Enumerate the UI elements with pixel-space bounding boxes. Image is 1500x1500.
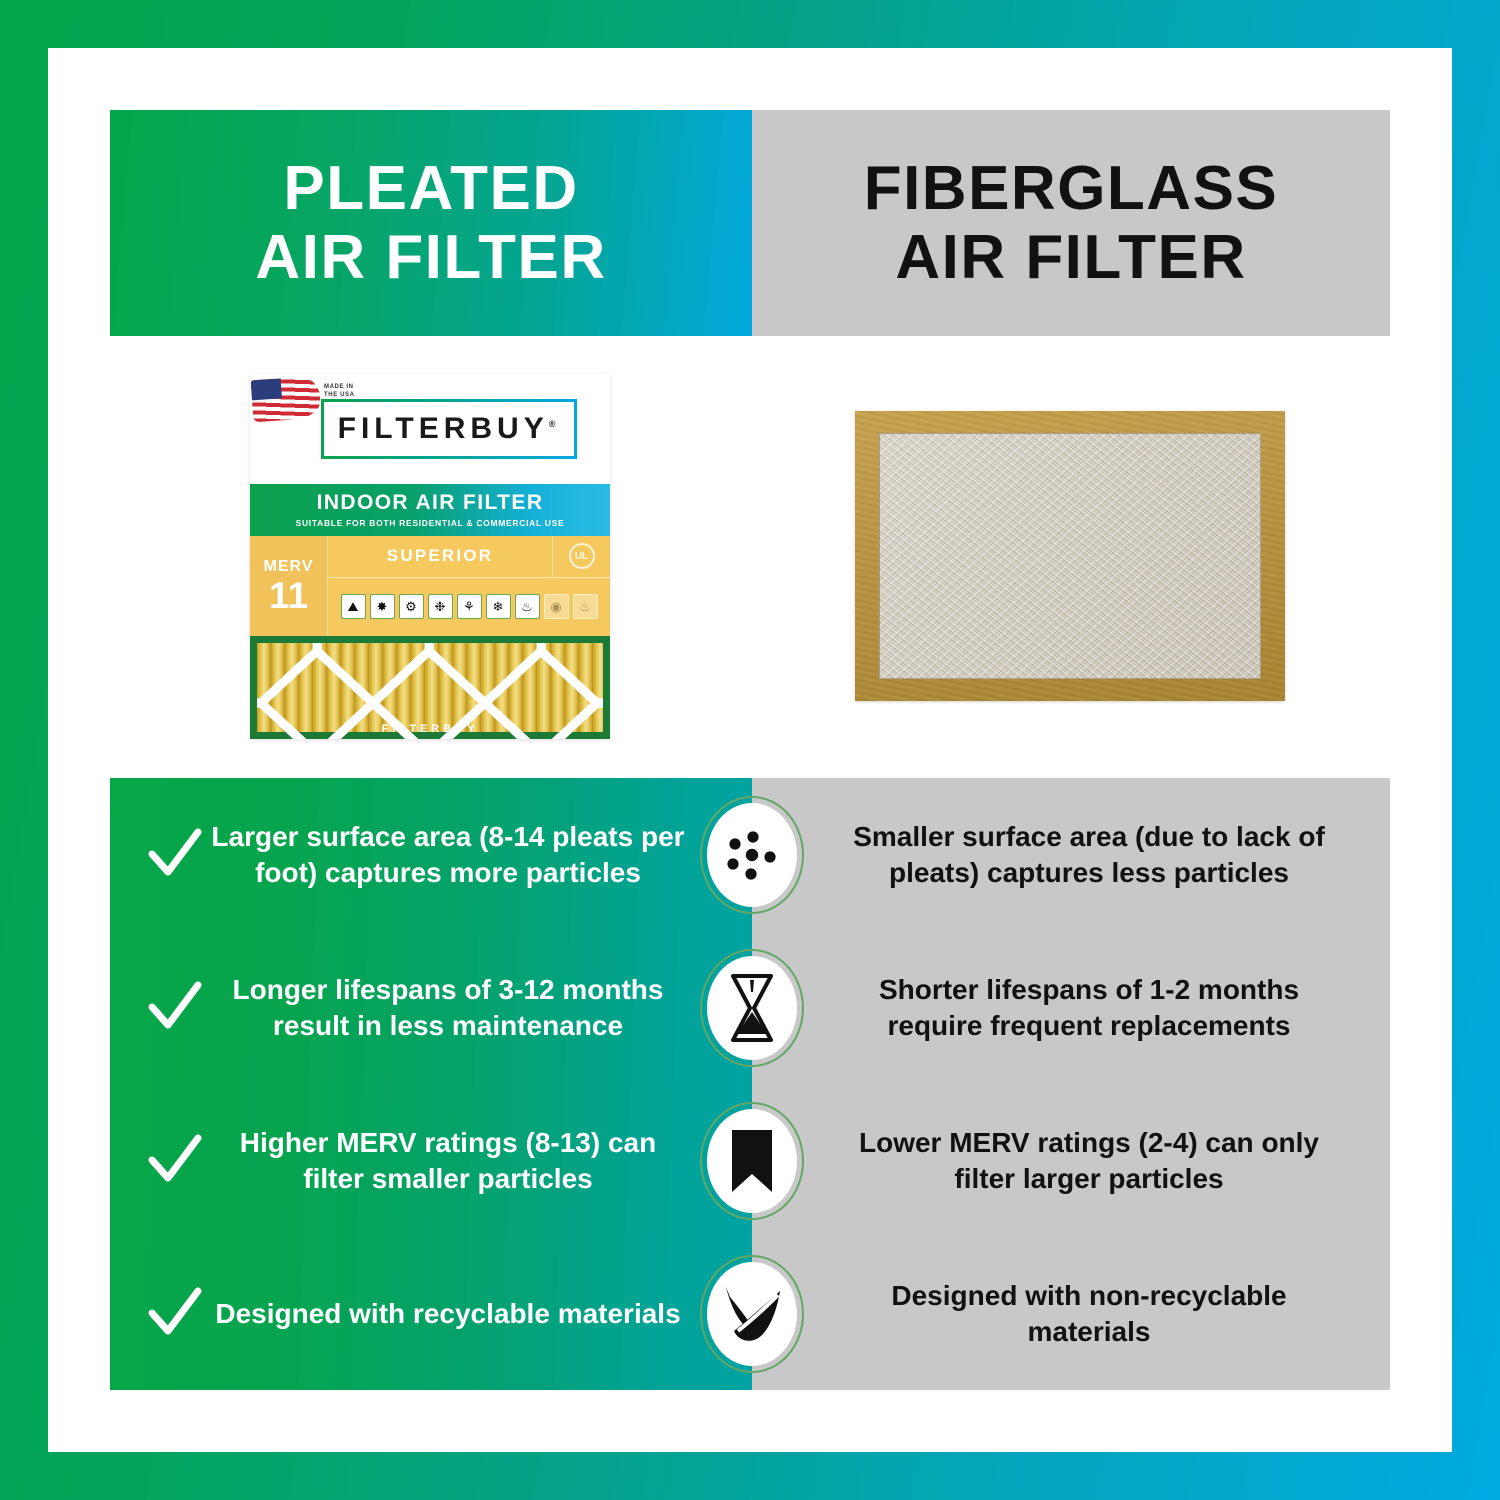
- merv-label: MERV: [264, 558, 314, 576]
- comparison-row: Designed with recyclable materials Desig…: [110, 1237, 1390, 1390]
- package-band-title: INDOOR AIR FILTER: [317, 491, 544, 515]
- infographic-content: PLEATED AIR FILTER FIBERGLASS AIR FILTER…: [110, 110, 1390, 1390]
- header-row: PLEATED AIR FILTER FIBERGLASS AIR FILTER: [110, 110, 1390, 336]
- usa-flag-icon: [251, 375, 322, 422]
- merv-detail-column: SUPERIOR UL ⛰ ✸ ⚙ ❉ ⚘ ❄ ♨: [328, 536, 610, 636]
- fiberglass-product-cell: [750, 336, 1390, 776]
- bookmark-icon: [700, 1102, 804, 1220]
- fiberglass-filter-image: [855, 411, 1285, 701]
- package-header: MADE IN THE USA FILTERBUY®: [250, 374, 610, 484]
- odor-icon: ♨: [573, 594, 598, 619]
- hourglass-icon: [700, 949, 804, 1067]
- germ-icon: ⚘: [457, 594, 482, 619]
- ul-certification: UL: [552, 536, 610, 577]
- row-left-pleated: Higher MERV ratings (8-13) can filter sm…: [110, 1084, 752, 1237]
- bookmark-glyph: [728, 1128, 776, 1194]
- hourglass-glyph: [723, 972, 781, 1044]
- header-fiberglass-title: FIBERGLASS AIR FILTER: [864, 154, 1279, 293]
- comparison-row: Higher MERV ratings (8-13) can filter sm…: [110, 1084, 1390, 1237]
- brand-logo-box: FILTERBUY®: [321, 399, 578, 459]
- registered-mark: ®: [549, 419, 561, 429]
- dust-icon: ⛰: [341, 594, 366, 619]
- pollen-icon: ⚙: [399, 594, 424, 619]
- row-right-text: Designed with non-recyclable materials: [832, 1278, 1346, 1350]
- row-left-text: Designed with recyclable materials: [208, 1296, 688, 1332]
- leaf-glyph: [720, 1283, 784, 1345]
- comparison-row: Larger surface area (8-14 pleats per foo…: [110, 778, 1390, 931]
- mold-spore-icon: ❉: [428, 594, 453, 619]
- package-band: INDOOR AIR FILTER SUITABLE FOR BOTH RESI…: [250, 484, 610, 536]
- row-left-text: Larger surface area (8-14 pleats per foo…: [208, 819, 688, 891]
- comparison-section: Larger surface area (8-14 pleats per foo…: [110, 778, 1390, 1390]
- fiberglass-media: [879, 433, 1261, 679]
- comparison-row: Longer lifespans of 3-12 months result i…: [110, 931, 1390, 1084]
- checkmark-icon: [142, 826, 208, 884]
- bacteria-icon: ✸: [370, 594, 395, 619]
- header-pleated-title: PLEATED AIR FILTER: [255, 154, 606, 293]
- filter-media-window: FILTERBUY: [250, 636, 610, 739]
- merv-badge: MERV 11: [250, 536, 328, 636]
- particles-icon: [700, 796, 804, 914]
- row-right-fiberglass: Designed with non-recyclable materials: [752, 1237, 1390, 1390]
- row-right-text: Lower MERV ratings (2-4) can only filter…: [832, 1125, 1346, 1197]
- particles-glyph: [720, 823, 784, 887]
- row-left-text: Longer lifespans of 3-12 months result i…: [208, 972, 688, 1044]
- feature-icon-row: ⛰ ✸ ⚙ ❉ ⚘ ❄ ♨ ◉ ♨: [328, 578, 610, 636]
- pleated-filter-package: MADE IN THE USA FILTERBUY® INDOOR AIR FI…: [250, 374, 610, 739]
- header-pleated: PLEATED AIR FILTER: [110, 110, 752, 336]
- merv-value: 11: [269, 577, 308, 614]
- comparison-rows: Larger surface area (8-14 pleats per foo…: [110, 778, 1390, 1390]
- package-band-subtitle: SUITABLE FOR BOTH RESIDENTIAL & COMMERCI…: [296, 518, 565, 528]
- product-images-row: MADE IN THE USA FILTERBUY® INDOOR AIR FI…: [110, 336, 1390, 776]
- row-left-pleated: Longer lifespans of 3-12 months result i…: [110, 931, 752, 1084]
- row-left-pleated: Designed with recyclable materials: [110, 1237, 752, 1390]
- grade-row: SUPERIOR UL: [328, 536, 610, 578]
- pleated-product-cell: MADE IN THE USA FILTERBUY® INDOOR AIR FI…: [110, 336, 750, 776]
- row-right-fiberglass: Shorter lifespans of 1-2 months require …: [752, 931, 1390, 1084]
- row-right-text: Shorter lifespans of 1-2 months require …: [832, 972, 1346, 1044]
- row-right-fiberglass: Smaller surface area (due to lack of ple…: [752, 778, 1390, 931]
- grade-label: SUPERIOR: [328, 536, 552, 577]
- grease-icon: ◉: [544, 594, 569, 619]
- checkmark-icon: [142, 979, 208, 1037]
- package-merv-section: MERV 11 SUPERIOR UL ⛰ ✸ ⚙: [250, 536, 610, 636]
- ul-mark-icon: UL: [569, 543, 595, 569]
- brand-logo-text: FILTERBUY®: [338, 412, 561, 446]
- made-in-usa-label: MADE IN THE USA: [324, 383, 355, 400]
- row-left-text: Higher MERV ratings (8-13) can filter sm…: [208, 1125, 688, 1197]
- checkmark-icon: [142, 1285, 208, 1343]
- leaf-icon: [700, 1255, 804, 1373]
- header-fiberglass: FIBERGLASS AIR FILTER: [752, 110, 1390, 336]
- smoke-icon: ♨: [515, 594, 540, 619]
- pet-dander-icon: ❄: [486, 594, 511, 619]
- row-right-text: Smaller surface area (due to lack of ple…: [832, 819, 1346, 891]
- row-left-pleated: Larger surface area (8-14 pleats per foo…: [110, 778, 752, 931]
- package-footer-brand: FILTERBUY: [250, 723, 610, 735]
- brand-name: FILTERBUY: [338, 412, 549, 445]
- checkmark-icon: [142, 1132, 208, 1190]
- row-right-fiberglass: Lower MERV ratings (2-4) can only filter…: [752, 1084, 1390, 1237]
